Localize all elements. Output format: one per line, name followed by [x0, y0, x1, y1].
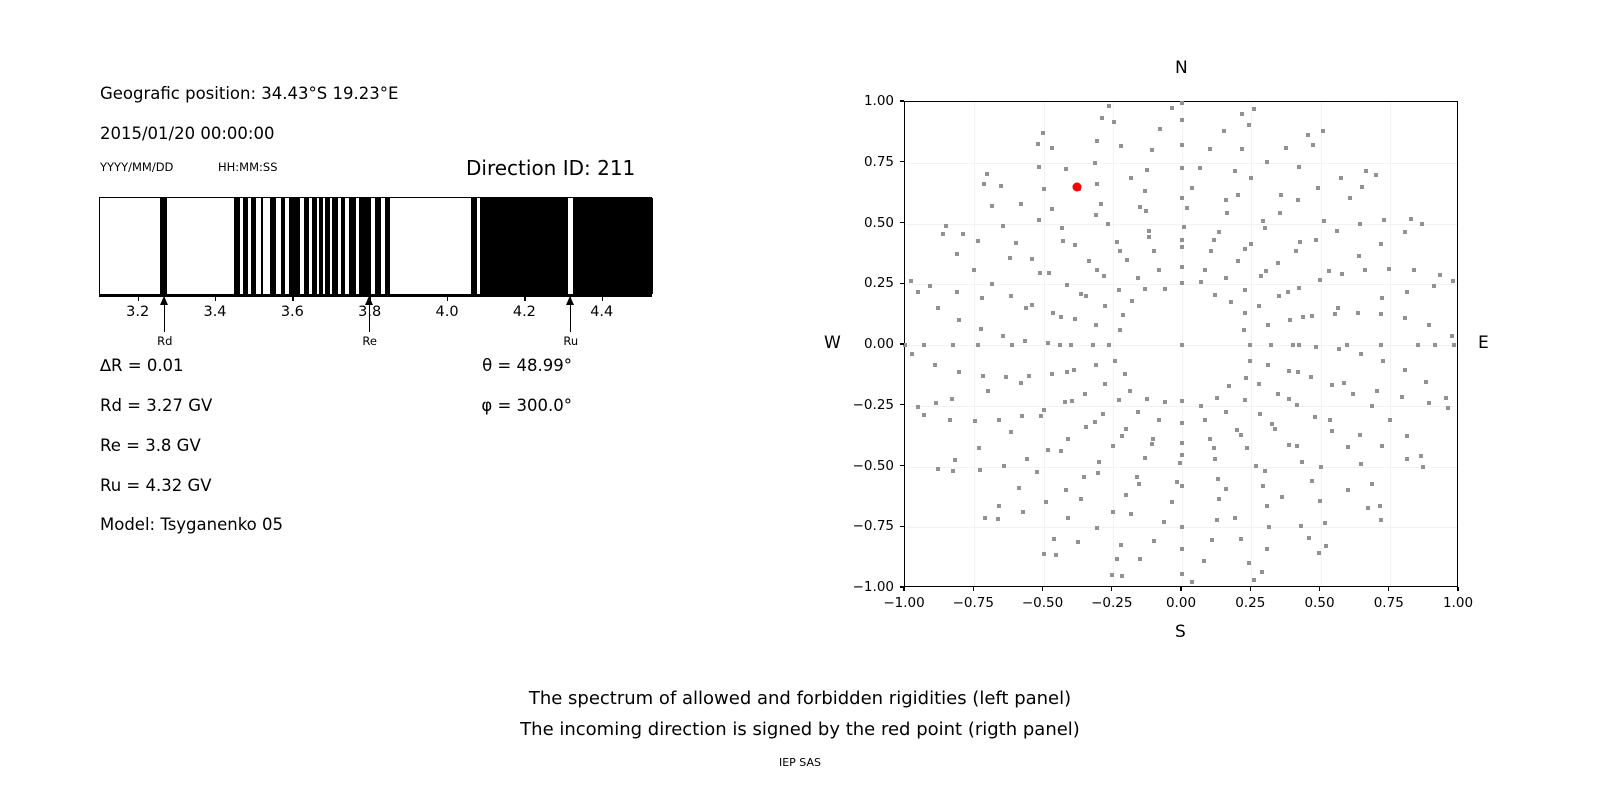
x-axis-tick-label: −0.25: [1091, 595, 1132, 611]
direction-point: [1145, 397, 1149, 401]
direction-point: [1300, 460, 1304, 464]
direction-point: [1046, 448, 1050, 452]
forbidden-band: [304, 198, 309, 294]
y-axis-tick-label: 0.00: [842, 336, 894, 352]
direction-point: [1314, 345, 1318, 349]
direction-point: [1224, 487, 1228, 491]
compass-label-north: N: [1175, 58, 1188, 78]
direction-point: [1079, 497, 1083, 501]
direction-point: [1093, 161, 1097, 165]
forbidden-band: [341, 198, 345, 294]
arrow-shaft: [369, 296, 370, 332]
y-axis-tick: [900, 161, 904, 162]
direction-point: [1254, 464, 1258, 468]
direction-point: [1313, 415, 1317, 419]
direction-point: [1279, 193, 1283, 197]
direction-point: [1180, 245, 1184, 249]
forbidden-band: [319, 198, 323, 294]
direction-point: [1427, 323, 1431, 327]
direction-point: [1024, 306, 1028, 310]
y-axis-tick-label: −0.75: [842, 518, 894, 534]
compass-label-east: E: [1478, 333, 1489, 353]
direction-point: [934, 401, 938, 405]
direction-point: [910, 352, 914, 356]
direction-point: [1073, 243, 1077, 247]
direction-point: [1180, 572, 1184, 576]
direction-point: [1010, 343, 1014, 347]
direction-point: [1107, 343, 1111, 347]
direction-point: [1076, 540, 1080, 544]
arrow-shaft: [164, 296, 165, 332]
direction-point: [1264, 269, 1268, 273]
direction-point: [1387, 267, 1391, 271]
direction-point: [1357, 254, 1361, 258]
direction-point: [1117, 398, 1121, 402]
direction-point: [1103, 304, 1107, 308]
direction-point: [1110, 573, 1114, 577]
forbidden-band: [325, 198, 329, 294]
direction-point: [1052, 537, 1056, 541]
direction-point: [1199, 280, 1203, 284]
y-axis-tick: [900, 586, 904, 587]
direction-point: [1297, 286, 1301, 290]
direction-point: [1175, 480, 1179, 484]
direction-point: [1118, 249, 1122, 253]
forbidden-band: [375, 198, 380, 294]
direction-point: [1035, 470, 1039, 474]
direction-point: [1063, 400, 1067, 404]
grid-line-horizontal: [905, 163, 1457, 164]
direction-point: [1240, 147, 1244, 151]
direction-point: [951, 469, 955, 473]
direction-point: [1318, 278, 1322, 282]
rigidity-marker-label: Re: [362, 334, 377, 348]
direction-point: [1239, 433, 1243, 437]
direction-point: [1261, 484, 1265, 488]
direction-point: [916, 290, 920, 294]
forbidden-band: [312, 198, 317, 294]
direction-point: [1296, 370, 1300, 374]
direction-point: [1257, 382, 1261, 386]
direction-point: [1348, 196, 1352, 200]
x-axis-tick: [1319, 587, 1320, 591]
direction-point: [1379, 343, 1383, 347]
direction-point: [1111, 510, 1115, 514]
direction-point: [957, 370, 961, 374]
direction-point: [996, 517, 1000, 521]
direction-point: [1243, 311, 1247, 315]
direction-point: [1215, 396, 1219, 400]
direction-point: [1091, 343, 1095, 347]
param-ru: Ru = 4.32 GV: [100, 476, 212, 495]
direction-point: [978, 468, 982, 472]
direction-point: [1124, 493, 1128, 497]
direction-point: [1363, 268, 1367, 272]
direction-point: [1374, 173, 1378, 177]
x-axis-tick: [1388, 587, 1389, 591]
direction-point: [1136, 410, 1140, 414]
direction-point: [1009, 294, 1013, 298]
direction-point: [1378, 504, 1382, 508]
direction-point: [997, 418, 1001, 422]
direction-point: [1138, 205, 1142, 209]
direction-point: [1095, 182, 1099, 186]
direction-point: [1405, 434, 1409, 438]
direction-point: [1130, 299, 1134, 303]
x-axis-tick-label: 0.50: [1304, 595, 1334, 611]
direction-point: [1225, 211, 1229, 215]
direction-point: [1084, 425, 1088, 429]
direction-point: [979, 327, 983, 331]
direction-point: [1106, 222, 1110, 226]
direction-point: [1403, 368, 1407, 372]
direction-point: [1178, 461, 1182, 465]
direction-point: [1069, 343, 1073, 347]
direction-point: [1208, 437, 1212, 441]
param-rd: Rd = 3.27 GV: [100, 396, 212, 415]
x-axis-tick: [1457, 587, 1458, 591]
direction-point: [1190, 580, 1194, 584]
direction-point: [1135, 475, 1139, 479]
direction-point: [1023, 339, 1027, 343]
direction-point: [1096, 471, 1100, 475]
direction-point: [1419, 454, 1423, 458]
direction-point: [1182, 225, 1186, 229]
grid-line-vertical: [974, 102, 975, 586]
direction-point: [1180, 343, 1184, 347]
param-re: Re = 3.8 GV: [100, 436, 201, 455]
direction-point: [1125, 258, 1129, 262]
direction-point: [1157, 418, 1161, 422]
direction-point: [1095, 526, 1099, 530]
direction-point: [1301, 315, 1305, 319]
direction-point: [1444, 396, 1448, 400]
y-axis-tick-label: 0.75: [842, 154, 894, 170]
direction-point: [1309, 375, 1313, 379]
x-axis-tick: [1111, 587, 1112, 591]
direction-point: [1129, 176, 1133, 180]
direction-point: [1296, 198, 1300, 202]
x-axis-tick-label: 0.00: [1166, 595, 1196, 611]
grid-line-horizontal: [905, 406, 1457, 407]
direction-point: [1409, 217, 1413, 221]
direction-point: [1263, 226, 1267, 230]
direction-point: [1212, 446, 1216, 450]
caption-line-1: The spectrum of allowed and forbidden ri…: [529, 688, 1071, 709]
forbidden-band: [480, 198, 568, 294]
forbidden-band: [160, 198, 167, 294]
direction-point: [1120, 434, 1124, 438]
direction-point: [1202, 559, 1206, 563]
direction-point: [1014, 241, 1018, 245]
direction-point: [961, 232, 965, 236]
direction-point: [1180, 399, 1184, 403]
direction-point: [986, 389, 990, 393]
direction-point: [957, 318, 961, 322]
direction-point: [1112, 120, 1116, 124]
direction-point: [1359, 352, 1363, 356]
direction-point: [1180, 453, 1184, 457]
direction-point: [1213, 457, 1217, 461]
direction-point: [1001, 334, 1005, 338]
direction-point: [1249, 176, 1253, 180]
direction-point: [990, 204, 994, 208]
direction-point: [1097, 460, 1101, 464]
compass-label-south: S: [1175, 622, 1186, 642]
direction-point: [1042, 408, 1046, 412]
rigidity-marker-label: Rd: [157, 334, 172, 348]
direction-point: [1117, 288, 1121, 292]
direction-point: [1310, 479, 1314, 483]
direction-point: [1273, 427, 1277, 431]
direction-point: [1054, 553, 1058, 557]
direction-point: [1381, 359, 1385, 363]
direction-point: [1065, 283, 1069, 287]
direction-point: [1087, 259, 1091, 263]
direction-point: [928, 284, 932, 288]
direction-point: [1060, 226, 1064, 230]
grid-line-horizontal: [905, 467, 1457, 468]
direction-point: [1288, 318, 1292, 322]
direction-point: [1358, 433, 1362, 437]
direction-point: [922, 413, 926, 417]
direction-point: [1270, 422, 1274, 426]
direction-id-label: Direction ID: 211: [466, 156, 635, 180]
direction-point: [1050, 146, 1054, 150]
direction-point: [948, 418, 952, 422]
direction-point: [1150, 148, 1154, 152]
direction-point: [1041, 131, 1045, 135]
direction-point: [1180, 547, 1184, 551]
direction-point: [1099, 202, 1103, 206]
axis-tick: [215, 297, 216, 301]
direction-point: [941, 232, 945, 236]
direction-point: [1002, 464, 1006, 468]
param-phi: φ = 300.0°: [481, 396, 572, 415]
direction-point: [1163, 400, 1167, 404]
direction-point: [1346, 488, 1350, 492]
x-axis-tick-label: −0.50: [1022, 595, 1063, 611]
direction-point: [1340, 272, 1344, 276]
x-axis-tick: [1250, 587, 1251, 591]
direction-point: [1314, 238, 1318, 242]
direction-point: [1021, 510, 1025, 514]
direction-point: [1129, 512, 1133, 516]
x-axis-tick-label: −1.00: [883, 595, 924, 611]
direction-point: [955, 290, 959, 294]
direction-point: [1066, 437, 1070, 441]
direction-point: [1295, 403, 1299, 407]
direction-point: [1038, 271, 1042, 275]
direction-point: [1137, 482, 1141, 486]
direction-point: [1120, 574, 1124, 578]
direction-point: [1222, 129, 1226, 133]
direction-point: [1046, 341, 1050, 345]
direction-point: [1115, 557, 1119, 561]
direction-point: [1019, 381, 1023, 385]
axis-tick-label: 3.4: [203, 304, 226, 320]
direction-point: [1224, 198, 1228, 202]
direction-point: [1432, 284, 1436, 288]
direction-point: [1297, 343, 1301, 347]
direction-point: [1180, 525, 1184, 529]
geographic-position-label: Geografic position: 34.43°S 19.23°E: [100, 84, 398, 103]
param-delta-r: ∆R = 0.01: [100, 356, 184, 375]
direction-point: [1297, 165, 1301, 169]
direction-point: [1044, 500, 1048, 504]
direction-point: [1356, 311, 1360, 315]
direction-point: [1321, 129, 1325, 133]
forbidden-band: [270, 198, 276, 294]
direction-point: [1233, 516, 1237, 520]
direction-point: [1001, 224, 1005, 228]
y-axis-tick-label: −1.00: [842, 579, 894, 595]
direction-point: [1278, 211, 1282, 215]
direction-point: [1420, 222, 1424, 226]
direction-point: [1124, 427, 1128, 431]
direction-point: [1266, 363, 1270, 367]
direction-point: [1180, 166, 1184, 170]
y-axis-tick: [900, 100, 904, 101]
direction-point: [1276, 261, 1280, 265]
direction-point: [1083, 392, 1087, 396]
direction-point: [1170, 500, 1174, 504]
direction-point: [1322, 219, 1326, 223]
direction-point: [1286, 290, 1290, 294]
direction-point: [1405, 290, 1409, 294]
direction-point: [1335, 229, 1339, 233]
direction-point: [1276, 392, 1280, 396]
direction-point: [1093, 420, 1097, 424]
direction-point: [1291, 343, 1295, 347]
grid-line-vertical: [1044, 102, 1045, 586]
direction-point: [1236, 193, 1240, 197]
direction-point: [1265, 160, 1269, 164]
direction-point: [1358, 222, 1362, 226]
direction-point: [1073, 317, 1077, 321]
direction-point: [1170, 106, 1174, 110]
direction-point: [1199, 404, 1203, 408]
direction-point: [1330, 383, 1334, 387]
direction-point: [953, 458, 957, 462]
direction-point: [1198, 166, 1202, 170]
direction-point: [1027, 374, 1031, 378]
rigidity-axis-annotations: 3.23.43.63.84.04.24.4RdReRu: [99, 297, 652, 357]
direction-point: [1030, 257, 1034, 261]
direction-point: [1147, 229, 1151, 233]
direction-point: [1351, 392, 1355, 396]
x-axis-tick: [973, 587, 974, 591]
direction-point: [1009, 430, 1013, 434]
direction-point: [1180, 484, 1184, 488]
axis-tick-label: 4.0: [436, 304, 459, 320]
direction-point: [976, 239, 980, 243]
direction-point: [1180, 196, 1184, 200]
y-axis-tick: [900, 283, 904, 284]
direction-point: [1242, 328, 1246, 332]
direction-point: [1235, 428, 1239, 432]
direction-point: [1379, 242, 1383, 246]
x-axis-tick-label: 1.00: [1443, 595, 1473, 611]
arrow-shaft: [570, 296, 571, 332]
y-axis-tick-label: −0.50: [842, 458, 894, 474]
direction-point: [1036, 142, 1040, 146]
direction-point: [1111, 444, 1115, 448]
direction-point: [1123, 372, 1127, 376]
direction-point: [1451, 279, 1455, 283]
direction-point: [922, 343, 926, 347]
direction-point: [1119, 144, 1123, 148]
direction-point: [1310, 314, 1314, 318]
direction-point: [1152, 539, 1156, 543]
direction-point: [1311, 143, 1315, 147]
direction-point: [1203, 418, 1207, 422]
direction-point: [1229, 300, 1233, 304]
direction-point: [1247, 123, 1251, 127]
x-axis-tick-label: −0.75: [953, 595, 994, 611]
y-axis-tick: [900, 343, 904, 344]
direction-point: [1180, 265, 1184, 269]
grid-line-horizontal: [905, 224, 1457, 225]
direction-point: [1265, 504, 1269, 508]
y-axis-tick: [900, 526, 904, 527]
direction-point: [1058, 343, 1062, 347]
direction-point: [951, 343, 955, 347]
forbidden-band: [332, 198, 338, 294]
direction-point: [1245, 446, 1249, 450]
axis-tick-label: 3.2: [126, 304, 149, 320]
direction-point: [1037, 165, 1041, 169]
direction-point: [1375, 389, 1379, 393]
direction-point: [1213, 293, 1217, 297]
direction-point: [1336, 306, 1340, 310]
direction-point: [1042, 552, 1046, 556]
direction-point: [1070, 399, 1074, 403]
direction-point: [1185, 206, 1189, 210]
direction-point: [1224, 410, 1228, 414]
direction-point: [1212, 238, 1216, 242]
direction-point: [1118, 328, 1122, 332]
y-axis-tick-label: −0.25: [842, 397, 894, 413]
time-format-hint: HH:MM:SS: [218, 160, 278, 174]
direction-point: [1103, 382, 1107, 386]
datetime-label: 2015/01/20 00:00:00: [100, 124, 274, 143]
y-axis-tick: [900, 404, 904, 405]
forbidden-band: [234, 198, 240, 294]
forbidden-band: [251, 198, 256, 294]
direction-point: [1327, 269, 1331, 273]
direction-point: [1416, 343, 1420, 347]
direction-point: [933, 363, 937, 367]
forbidden-band: [359, 198, 371, 294]
x-axis-tick: [1180, 587, 1181, 591]
direction-point: [1287, 443, 1291, 447]
direction-point: [1266, 323, 1270, 327]
direction-point: [1209, 249, 1213, 253]
direction-point: [1243, 247, 1247, 251]
y-axis-tick-label: 0.25: [842, 275, 894, 291]
direction-point: [1382, 218, 1386, 222]
direction-point: [1239, 537, 1243, 541]
direction-point: [1047, 271, 1051, 275]
direction-point: [1210, 538, 1214, 542]
direction-point: [1147, 235, 1151, 239]
direction-point: [1180, 143, 1184, 147]
direction-point: [1421, 465, 1425, 469]
direction-point: [1317, 551, 1321, 555]
direction-point: [1064, 488, 1068, 492]
direction-point: [1257, 304, 1261, 308]
